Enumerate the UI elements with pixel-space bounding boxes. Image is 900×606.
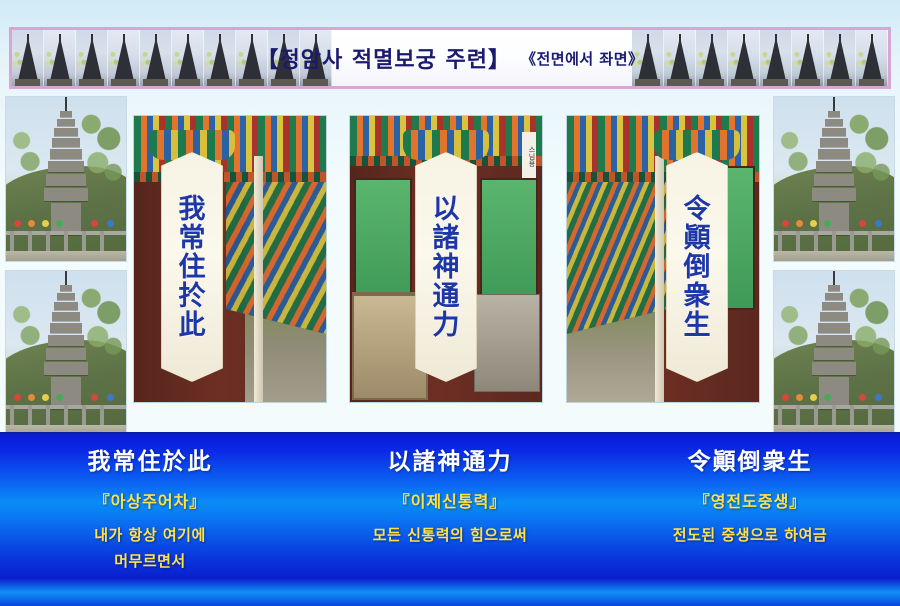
plaque-char: 常: [179, 225, 206, 252]
plaque-char: 通: [433, 283, 460, 310]
caption-panel: 我常住於此 『아상주어차』 내가 항상 여기에 머무르면서 以諸神通力 『이제신…: [0, 432, 900, 606]
caption-hanja: 令顚倒衆生: [604, 442, 896, 476]
photo-gallery: 我 常 住 扵 此 스님용 以 諸 神 通 力: [0, 96, 900, 436]
thumbnail-column-left: [5, 96, 127, 436]
plaque-char: 顚: [684, 225, 711, 252]
thumbnail-column-right: [773, 96, 895, 436]
caption-translation: 전도된 중생으로 하여금: [604, 522, 896, 548]
caption-hanja: 我常住於此: [4, 442, 296, 476]
plaque-char: 以: [433, 196, 460, 223]
caption-column-3: 令顚倒衆生 『영전도중생』 전도된 중생으로 하여금: [600, 442, 900, 574]
page-title-sub: 《전면에서 좌면》: [521, 48, 644, 69]
crate-label: 스님용: [522, 132, 536, 178]
plaque-char: 我: [179, 196, 206, 223]
page-title: 【정암사 적멸보궁 주련】 《전면에서 좌면》: [12, 30, 888, 86]
caption-hangul: 『아상주어차』: [4, 488, 296, 512]
pillar-plaque-3: 令 顚 倒 衆 生: [666, 152, 728, 382]
plaque-char: 扵: [179, 283, 206, 310]
caption-hangul: 『이제신통력』: [304, 488, 596, 512]
plaque-char: 諸: [433, 225, 460, 252]
stone-pagoda-photo[interactable]: [5, 96, 127, 262]
stone-pagoda-photo[interactable]: [773, 96, 895, 262]
caption-hanja: 以諸神通力: [304, 442, 596, 476]
caption-translation-line: 머무르면서: [4, 548, 296, 574]
caption-column-1: 我常住於此 『아상주어차』 내가 항상 여기에 머무르면서: [0, 442, 300, 574]
header-banner: 【정암사 적멸보궁 주련】 《전면에서 좌면》: [9, 27, 891, 89]
plaque-char: 神: [433, 254, 460, 281]
caption-translation-line: 내가 항상 여기에: [4, 522, 296, 548]
pillar-photo-2[interactable]: 스님용 以 諸 神 通 力: [349, 115, 543, 403]
plaque-char: 衆: [684, 283, 711, 310]
plaque-char: 住: [179, 254, 206, 281]
caption-column-2: 以諸神通力 『이제신통력』 모든 신통력의 힘으로써: [300, 442, 600, 574]
stone-pagoda-photo[interactable]: [5, 270, 127, 436]
pillar-photo-1[interactable]: 我 常 住 扵 此: [133, 115, 327, 403]
plaque-char: 力: [433, 312, 460, 339]
caption-translation: 내가 항상 여기에 머무르면서: [4, 522, 296, 574]
caption-translation-line: 모든 신통력의 힘으로써: [304, 522, 596, 548]
plaque-char: 此: [179, 312, 206, 339]
plaque-char: 令: [684, 196, 711, 223]
page-title-main: 【정암사 적멸보궁 주련】: [256, 42, 510, 74]
caption-translation-line: 전도된 중생으로 하여금: [604, 522, 896, 548]
pillar-photo-3[interactable]: 令 顚 倒 衆 生: [566, 115, 760, 403]
caption-columns: 我常住於此 『아상주어차』 내가 항상 여기에 머무르면서 以諸神通力 『이제신…: [0, 442, 900, 574]
plaque-char: 生: [684, 312, 711, 339]
plaque-char: 倒: [684, 254, 711, 281]
caption-hangul: 『영전도중생』: [604, 488, 896, 512]
caption-translation: 모든 신통력의 힘으로써: [304, 522, 596, 548]
slide-root: 【정암사 적멸보궁 주련】 《전면에서 좌면》: [0, 0, 900, 606]
stone-pagoda-photo[interactable]: [773, 270, 895, 436]
pillar-plaque-1: 我 常 住 扵 此: [161, 152, 223, 382]
pillar-plaque-2: 以 諸 神 通 力: [415, 152, 477, 382]
wooden-crate: [474, 294, 540, 392]
